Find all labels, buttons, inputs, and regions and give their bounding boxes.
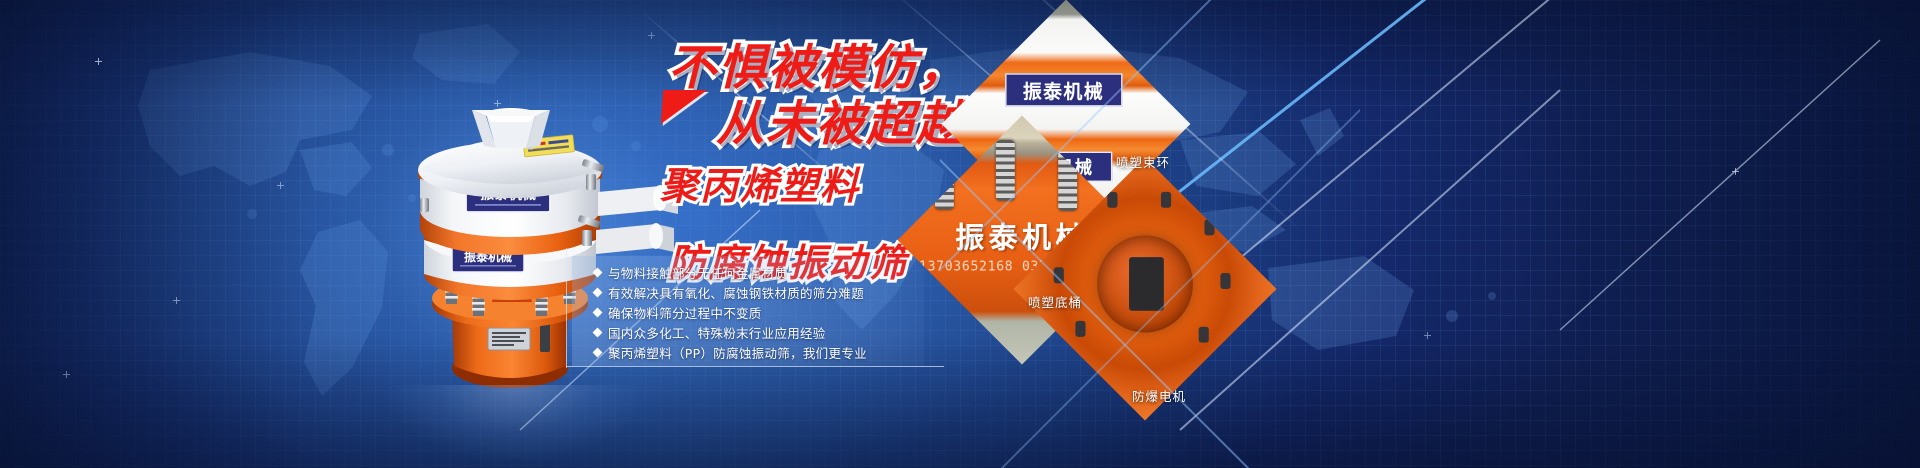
- spring-icon: [996, 140, 1015, 201]
- list-item-label: 有效解决具有氧化、腐蚀钢铁材质的筛分难题: [608, 283, 864, 302]
- diamond-bullet-icon: [593, 267, 603, 277]
- bolt-icon: [1107, 192, 1117, 208]
- list-item-label: 与物料接触部分无任何金属材质: [608, 263, 787, 282]
- bolt-icon: [1075, 321, 1085, 337]
- bolt-icon: [1221, 273, 1231, 289]
- product-photo-collage: 振泰机械 振泰机械 振泰机械 13703652168 0373-3337670: [940, 0, 1360, 468]
- photo-brand-label: 振泰机械: [1005, 73, 1122, 106]
- bullet-panel-bottom-rule: [566, 366, 944, 367]
- bolt-icon: [1053, 267, 1063, 283]
- collage-caption: 喷塑束环: [1116, 152, 1170, 171]
- list-item: 有效解决具有氧化、腐蚀钢铁材质的筛分难题: [594, 282, 924, 302]
- list-item-label: 聚丙烯塑料（PP）防腐蚀振动筛，我们更专业: [608, 343, 867, 362]
- diamond-bullet-icon: [593, 347, 603, 357]
- list-item-label: 国内众多化工、特殊粉末行业应用经验: [608, 323, 826, 342]
- list-item: 国内众多化工、特殊粉末行业应用经验: [594, 322, 924, 342]
- feature-bullet-list: 与物料接触部分无任何金属材质 有效解决具有氧化、腐蚀钢铁材质的筛分难题 确保物料…: [572, 256, 924, 366]
- list-item: 确保物料筛分过程中不变质: [594, 302, 924, 322]
- list-item: 与物料接触部分无任何金属材质: [594, 262, 924, 282]
- triangle-arrow-icon: [661, 90, 707, 124]
- diamond-bullet-icon: [593, 307, 603, 317]
- promo-banner: 振泰机械 振泰机械: [0, 0, 1920, 468]
- bolt-icon: [1204, 219, 1214, 235]
- bolt-icon: [1199, 327, 1209, 343]
- collage-caption: 防爆电机: [1132, 386, 1186, 405]
- list-item-label: 确保物料筛分过程中不变质: [608, 303, 762, 322]
- bullet-panel-left-rule: [566, 248, 567, 368]
- list-item: 聚丙烯塑料（PP）防腐蚀振动筛，我们更专业: [594, 342, 924, 362]
- collage-caption: 喷塑底桶: [1028, 292, 1082, 311]
- motor-terminal-box: [1129, 257, 1164, 311]
- diamond-bullet-icon: [593, 327, 603, 337]
- bolt-icon: [1161, 192, 1171, 208]
- diamond-bullet-icon: [593, 287, 603, 297]
